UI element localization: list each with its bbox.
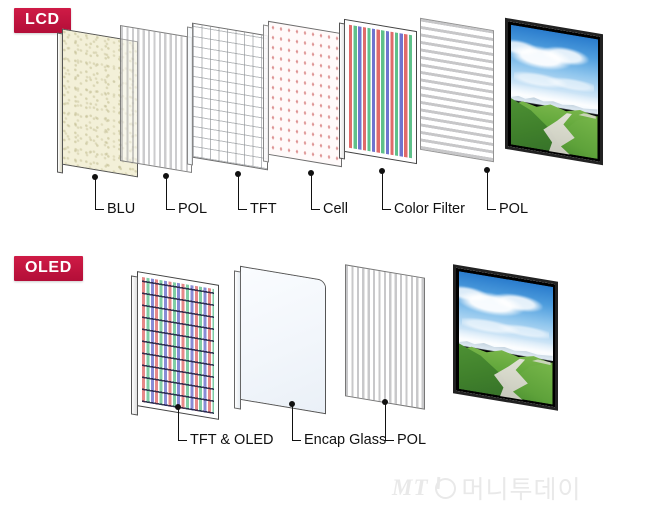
lcd-layer-cell — [268, 21, 342, 167]
label-lcd-blu: BLU — [107, 202, 135, 216]
encap-glass-texture — [241, 267, 325, 413]
lcd-layer-tft-edge — [187, 26, 193, 165]
lcd-layer-cell-edge — [263, 24, 269, 162]
section-badge-oled: OLED — [14, 256, 83, 281]
label-lcd-cell: Cell — [323, 202, 348, 216]
money-today-ring-icon — [432, 475, 458, 501]
oled-display-bezel — [453, 264, 558, 411]
label-oled-pol: POL — [397, 433, 426, 447]
label-lcd-pol1: POL — [178, 202, 207, 216]
label-oled-encap-glass: Encap Glass — [304, 433, 386, 447]
watermark-mt-text: MT — [392, 475, 429, 501]
tft-texture — [193, 24, 267, 169]
lcd-display-bezel — [505, 18, 603, 165]
lcd-layer-pol1 — [120, 25, 192, 173]
pol1-texture — [121, 26, 191, 172]
oled-layer-encap-glass — [240, 266, 326, 414]
lcd-final-display — [505, 18, 603, 165]
lcd-layer-pol2 — [420, 18, 494, 162]
lcd-layer-color-filter-edge — [339, 22, 345, 159]
pol2-texture — [421, 19, 493, 161]
color-filter-texture — [349, 25, 412, 159]
lcd-layer-color-filter — [344, 19, 417, 164]
watermark: MT 머니투데이 — [392, 470, 642, 506]
lcd-layer-blu-edge — [57, 32, 63, 173]
lcd-display-scene — [508, 21, 600, 161]
oled-final-display — [453, 264, 558, 411]
label-lcd-tft: TFT — [250, 202, 277, 216]
oled-display-scene — [456, 268, 555, 408]
label-lcd-color-filter: Color Filter — [394, 202, 465, 216]
diagram-canvas: LCD — [0, 0, 650, 512]
oled-layer-tft-oled-edge — [131, 275, 138, 415]
watermark-korean-text: 머니투데이 — [462, 470, 582, 506]
oled-layer-pol — [345, 264, 425, 409]
oled-pol-texture — [346, 265, 424, 408]
lcd-layer-tft — [192, 23, 268, 171]
tft-oled-texture — [142, 277, 214, 414]
cell-texture — [269, 22, 341, 166]
oled-layer-tft-oled — [137, 271, 219, 420]
oled-layer-encap-glass-edge — [234, 270, 241, 409]
label-oled-tft-oled: TFT & OLED — [190, 433, 274, 447]
label-lcd-pol2: POL — [499, 202, 528, 216]
